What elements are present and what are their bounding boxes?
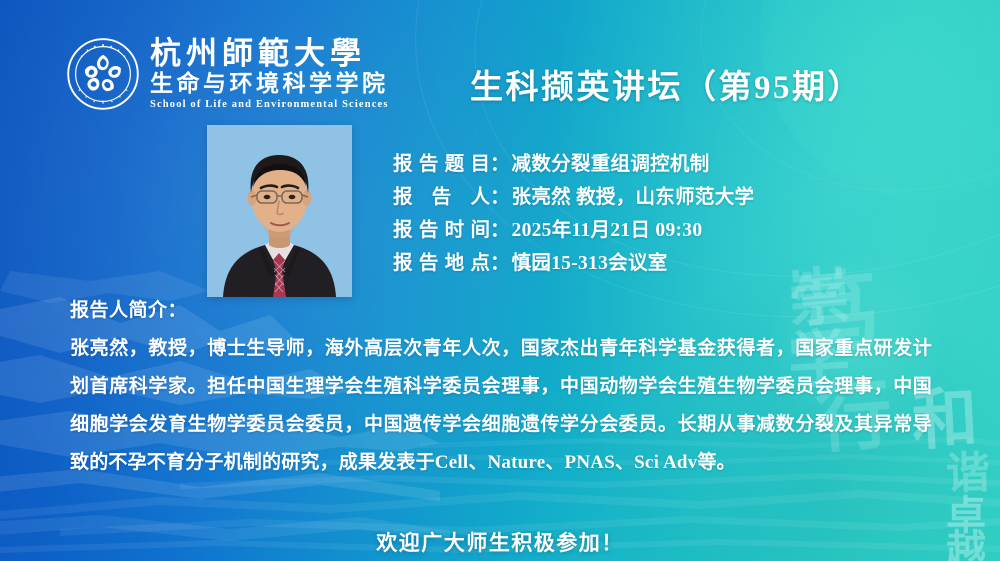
info-label-speaker: 报告人 xyxy=(393,181,490,214)
info-colon: ： xyxy=(490,181,510,214)
portrait-image xyxy=(207,125,352,297)
seminar-info-block: 报告题目 ： 减数分裂重组调控机制 报告人 ： 张亮然 教授，山东师范大学 报告… xyxy=(393,148,754,280)
info-value-time: 2025年11月21日 09:30 xyxy=(512,214,703,247)
logo-university-name: 杭州師範大學 xyxy=(150,38,389,71)
logo-school-name: 生命与环境科学学院 xyxy=(150,71,389,97)
info-row-speaker: 报告人 ： 张亮然 教授，山东师范大学 xyxy=(393,181,754,214)
info-row-time: 报告时间 ： 2025年11月21日 09:30 xyxy=(393,214,754,247)
school-logo: 杭州師範大學 生命与环境科学学院 School of Life and Envi… xyxy=(66,36,389,112)
bio-heading: 报告人简介： xyxy=(70,292,932,330)
seminar-poster: 崇 学 笃 行 和 谐 卓 越 杭 xyxy=(0,0,1000,561)
logo-school-name-en: School of Life and Environmental Science… xyxy=(150,99,389,112)
info-colon: ： xyxy=(490,148,510,181)
info-label-venue: 报告地点 xyxy=(393,247,490,280)
info-row-topic: 报告题目 ： 减数分裂重组调控机制 xyxy=(393,148,754,181)
school-emblem-icon xyxy=(66,37,140,111)
info-value-topic: 减数分裂重组调控机制 xyxy=(512,148,710,181)
info-colon: ： xyxy=(490,247,510,280)
speaker-bio: 报告人简介： 张亮然，教授，博士生导师，海外高层次青年人次，国家杰出青年科学基金… xyxy=(70,292,932,482)
page-title: 生科撷英讲坛（第95期） xyxy=(470,60,863,108)
info-value-speaker: 张亮然 教授，山东师范大学 xyxy=(512,181,755,214)
speaker-portrait xyxy=(207,125,352,297)
info-colon: ： xyxy=(490,214,510,247)
info-row-venue: 报告地点 ： 慎园15-313会议室 xyxy=(393,247,754,280)
welcome-message: 欢迎广大师生积极参加！ xyxy=(0,527,1000,557)
calligraphy-watermark-xie: 谐 xyxy=(945,451,991,497)
bio-text: 张亮然，教授，博士生导师，海外高层次青年人次，国家杰出青年科学基金获得者，国家重… xyxy=(70,330,932,482)
info-label-time: 报告时间 xyxy=(393,214,490,247)
info-value-venue: 慎园15-313会议室 xyxy=(512,247,668,280)
info-label-topic: 报告题目 xyxy=(393,148,490,181)
